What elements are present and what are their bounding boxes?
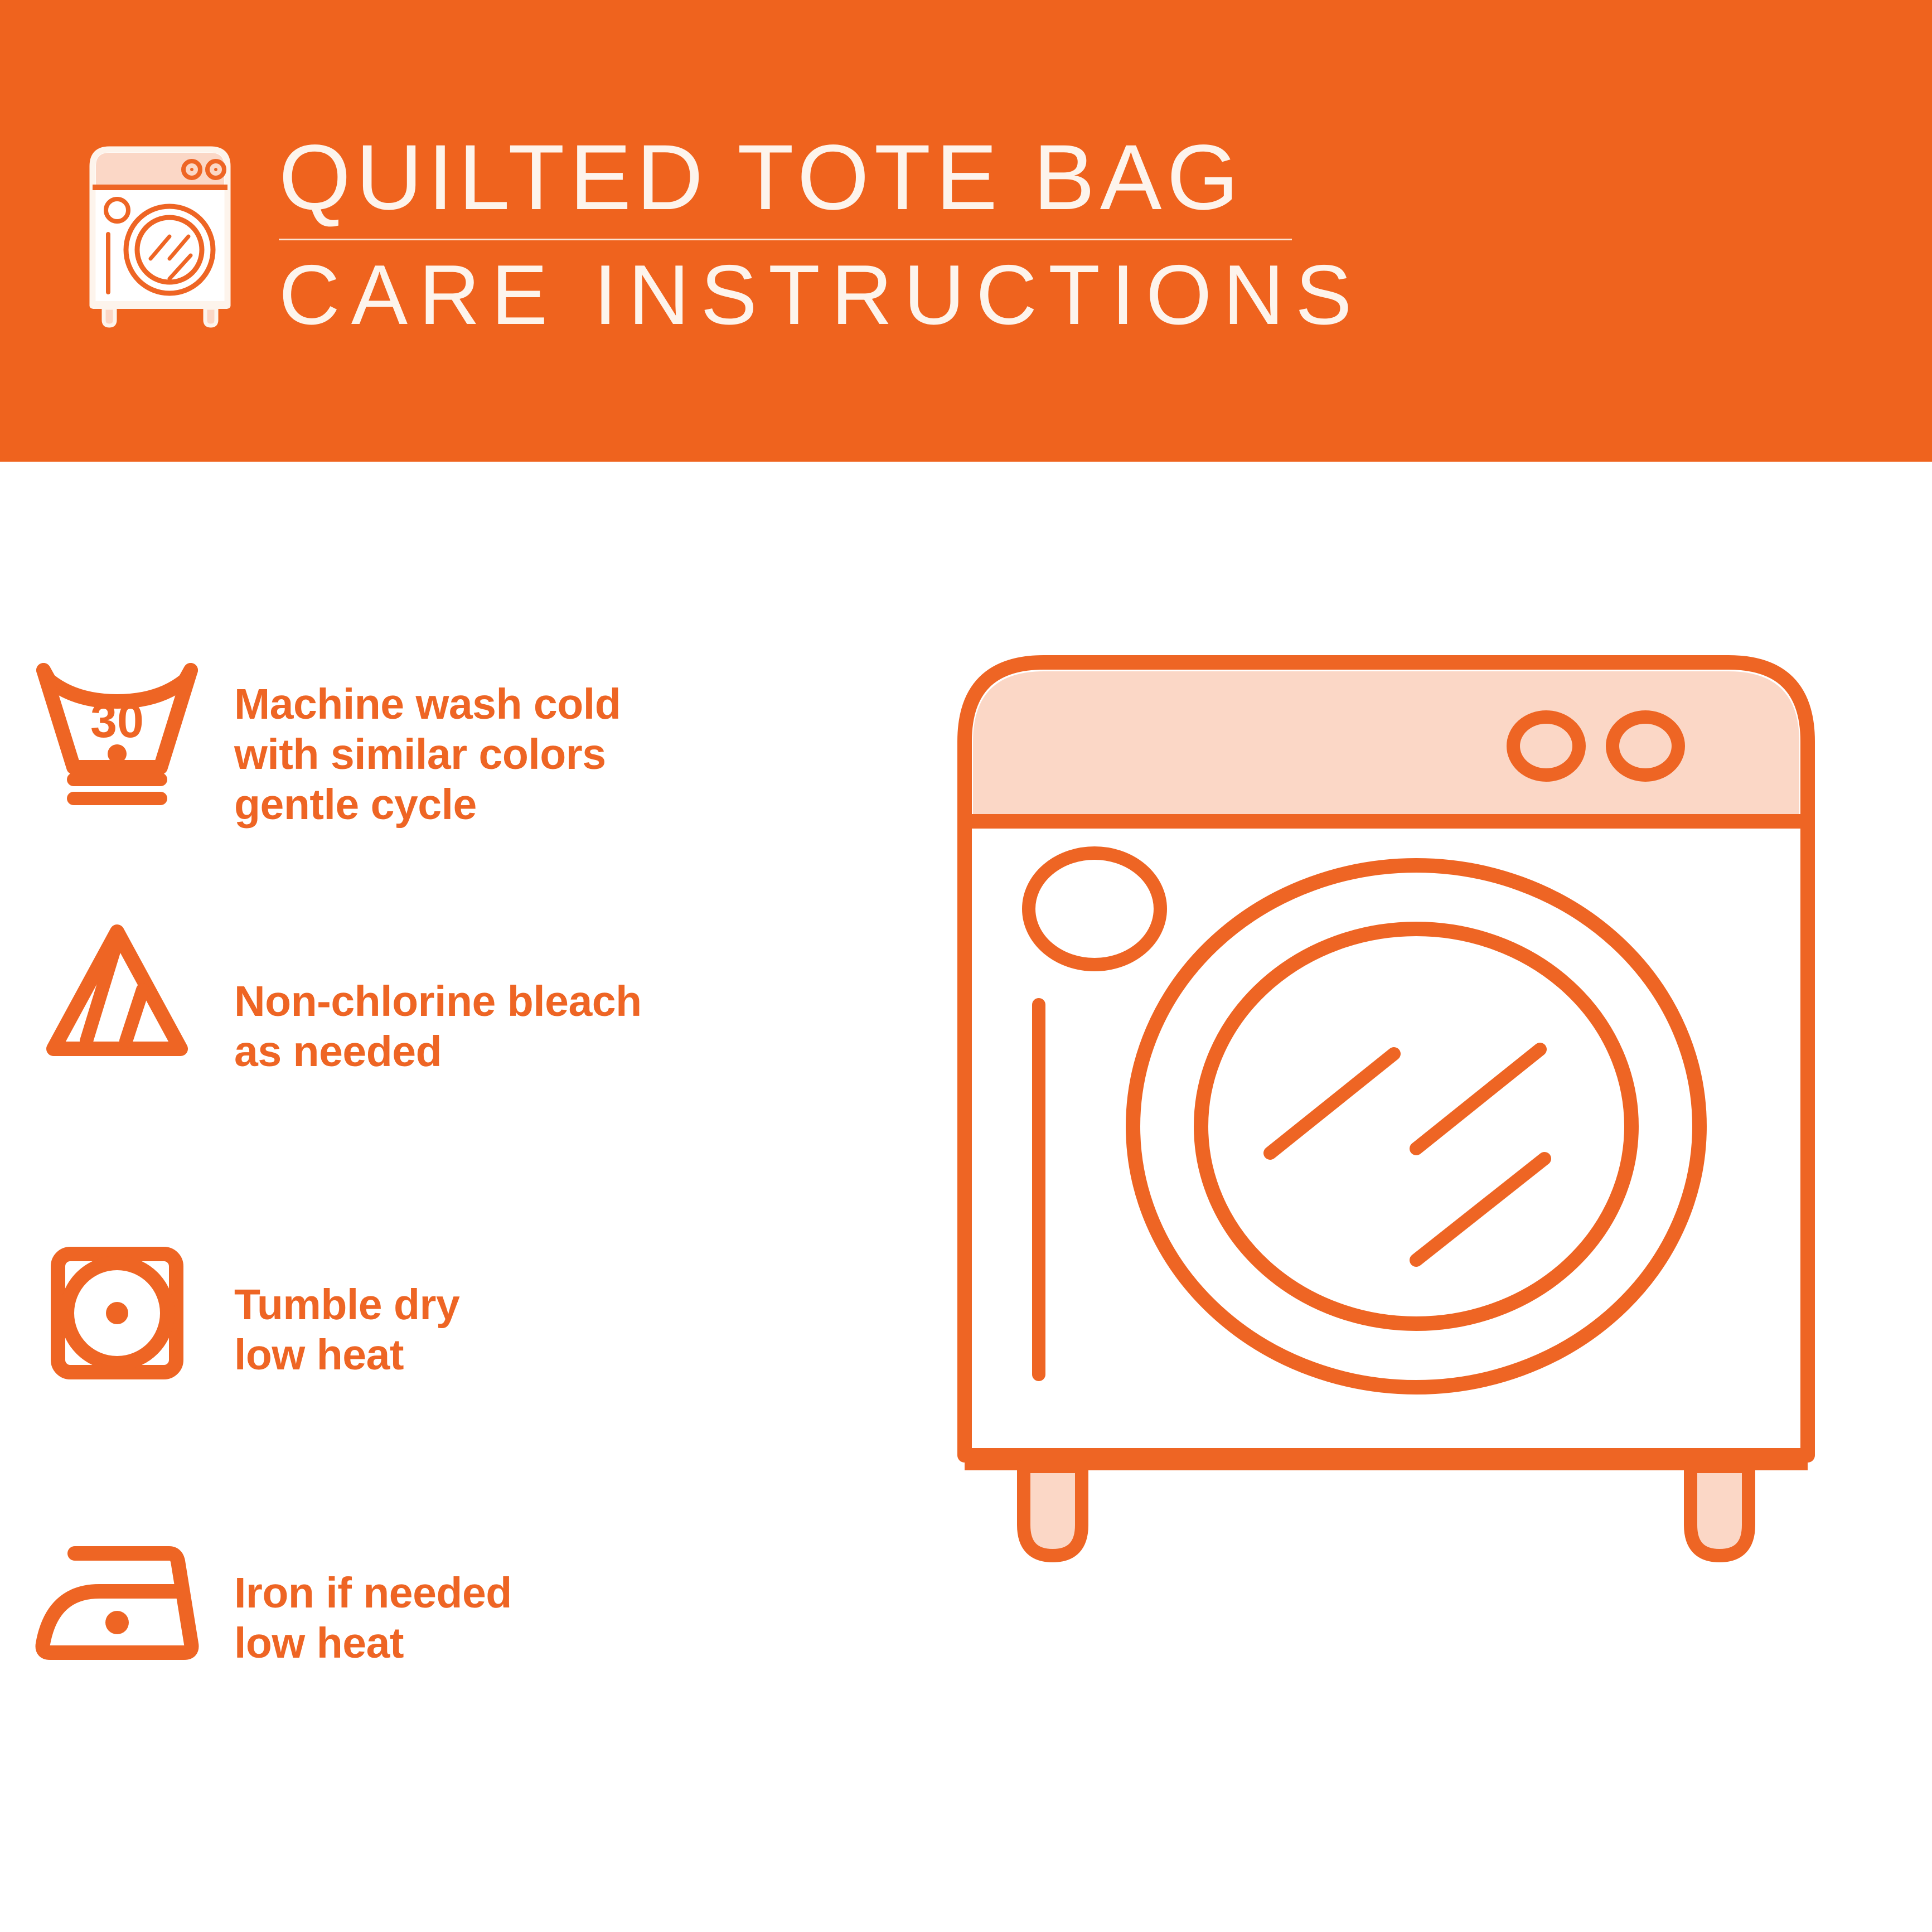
list-item: Tumble dry low heat	[0, 1229, 937, 1397]
list-item-label: Machine wash cold with similar colors ge…	[234, 658, 621, 830]
tumble-dry-low-icon	[0, 1229, 234, 1397]
washing-machine-icon	[85, 141, 235, 330]
header-banner: QUILTED TOTE BAG CARE INSTRUCTIONS	[0, 0, 1932, 462]
wash-basin-30-icon: 30	[0, 658, 234, 825]
page-title: QUILTED TOTE BAG	[279, 132, 1310, 224]
list-item-label: Non-chlorine bleach as needed	[234, 912, 642, 1077]
list-item: Non-chlorine bleach as needed	[0, 912, 937, 1079]
page-subtitle: CARE INSTRUCTIONS	[279, 253, 1310, 337]
header-title-group: QUILTED TOTE BAG CARE INSTRUCTIONS	[279, 132, 1310, 337]
iron-low-heat-icon	[0, 1517, 234, 1684]
list-item: Iron if needed low heat	[0, 1517, 937, 1684]
title-divider	[279, 239, 1292, 240]
bleach-triangle-icon	[0, 912, 234, 1079]
list-item-label: Iron if needed low heat	[234, 1517, 512, 1668]
list-item-label: Tumble dry low heat	[234, 1229, 459, 1380]
list-item: 30 Machine wash cold with similar colors…	[0, 658, 937, 830]
washing-machine-illustration	[948, 630, 1918, 1912]
wash-temp-label: 30	[90, 694, 144, 748]
